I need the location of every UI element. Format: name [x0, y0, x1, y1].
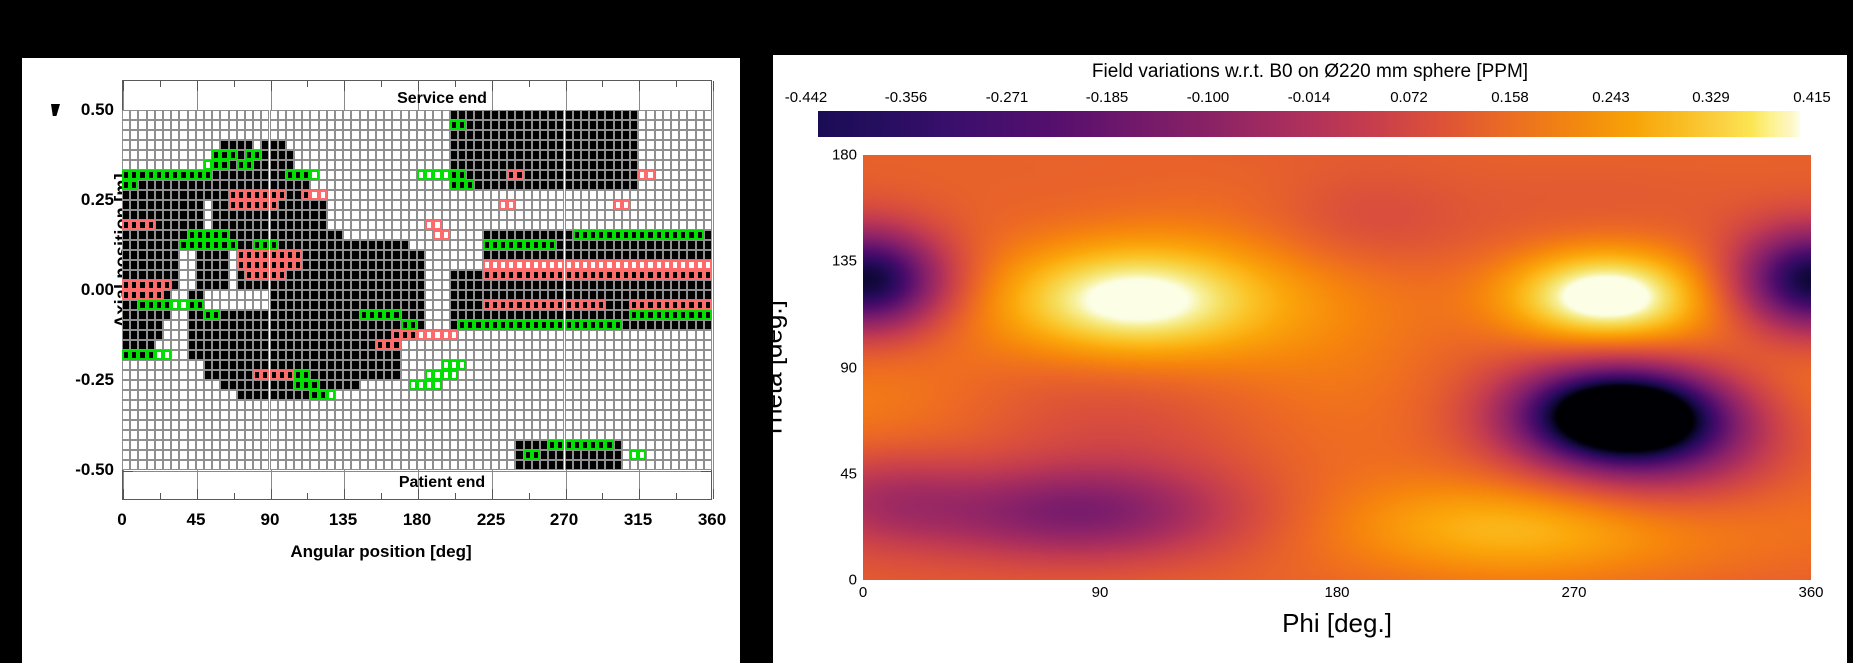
shim-cell [466, 380, 474, 390]
shim-cell [229, 280, 237, 290]
shim-cell [450, 380, 458, 390]
shim-cell [278, 110, 286, 120]
shim-cell [155, 110, 163, 120]
shim-cell [646, 390, 654, 400]
shim-cell [458, 290, 466, 300]
shim-cell [573, 320, 581, 330]
shim-cell [605, 250, 613, 260]
shim-cell [147, 220, 155, 230]
shim-cell [466, 340, 474, 350]
shim-cell [696, 380, 704, 390]
shim-cell [646, 220, 654, 230]
shim-cell [368, 380, 376, 390]
shim-cell [319, 300, 327, 310]
shim-cell [237, 380, 245, 390]
shim-cell [679, 340, 687, 350]
shim-cell [663, 380, 671, 390]
shim-cell [679, 190, 687, 200]
shim-cell [392, 380, 400, 390]
shim-cell [704, 460, 712, 470]
shim-cell [204, 400, 212, 410]
shim-cell [646, 260, 654, 270]
shim-cell [147, 460, 155, 470]
shim-cell [130, 110, 138, 120]
shim-cell [237, 360, 245, 370]
shim-cell [261, 340, 269, 350]
shim-cell [524, 270, 532, 280]
shim-cell [630, 370, 638, 380]
shim-cell [491, 400, 499, 410]
shim-cell [270, 460, 278, 470]
shim-cell [327, 150, 335, 160]
shim-cell [696, 250, 704, 260]
shim-cell [376, 130, 384, 140]
shim-cell [663, 410, 671, 420]
shim-cell [196, 110, 204, 120]
shim-cell [671, 220, 679, 230]
shim-cell [319, 400, 327, 410]
shim-cell [343, 460, 351, 470]
shim-cell [581, 110, 589, 120]
shim-cell [556, 330, 564, 340]
shim-cell [614, 230, 622, 240]
shim-cell [466, 350, 474, 360]
shim-cell [630, 420, 638, 430]
shim-cell [237, 310, 245, 320]
shim-cell [138, 460, 146, 470]
shim-cell [351, 380, 359, 390]
shim-cell [442, 150, 450, 160]
shim-cell [515, 150, 523, 160]
shim-cell [605, 120, 613, 130]
shim-cell [237, 220, 245, 230]
shim-cell [630, 340, 638, 350]
shim-cell [212, 170, 220, 180]
shim-cell [687, 130, 695, 140]
shim-cell [524, 200, 532, 210]
shim-cell [687, 180, 695, 190]
shim-cell [458, 210, 466, 220]
shim-cell [302, 430, 310, 440]
shim-cell [597, 270, 605, 280]
shim-cell [548, 200, 556, 210]
shim-cell [450, 120, 458, 130]
shim-cell [368, 230, 376, 240]
shim-cell [302, 190, 310, 200]
shim-cell [155, 240, 163, 250]
heatmap-x-tick-360: 360 [1798, 584, 1823, 601]
heatmap-x-tick-180: 180 [1324, 584, 1349, 601]
shim-cell [458, 350, 466, 360]
shim-cell [581, 200, 589, 210]
shim-cell [171, 130, 179, 140]
shim-cell [646, 330, 654, 340]
shim-cell [573, 360, 581, 370]
shim-cell [368, 440, 376, 450]
shim-cell [614, 280, 622, 290]
shim-cell [261, 230, 269, 240]
shim-cell [466, 280, 474, 290]
shim-cell [409, 160, 417, 170]
colorbar-tick-0: -0.442 [766, 89, 846, 106]
shim-cell [655, 220, 663, 230]
shim-cell [343, 310, 351, 320]
shim-cell [351, 270, 359, 280]
shim-cell [466, 370, 474, 380]
shim-cell [630, 110, 638, 120]
shim-cell [597, 330, 605, 340]
shim-cell [351, 250, 359, 260]
shim-cell [663, 290, 671, 300]
shim-cell [335, 380, 343, 390]
shim-cell [163, 370, 171, 380]
shim-cell [679, 360, 687, 370]
shim-cell [220, 320, 228, 330]
left-x-axis-label: Angular position [deg] [22, 542, 740, 562]
shim-cell [376, 290, 384, 300]
shim-cell [597, 130, 605, 140]
shim-cell [204, 270, 212, 280]
shim-cell [351, 190, 359, 200]
shim-cell [319, 350, 327, 360]
shim-cell [196, 140, 204, 150]
shim-cell [310, 180, 318, 190]
shim-cell [376, 280, 384, 290]
shim-cell [122, 250, 130, 260]
shim-cell [335, 220, 343, 230]
shim-cell [671, 350, 679, 360]
shim-cell [327, 270, 335, 280]
shim-cell [499, 320, 507, 330]
shim-cell [220, 150, 228, 160]
shim-cell [384, 220, 392, 230]
shim-cell [278, 280, 286, 290]
shim-cell [302, 380, 310, 390]
shim-cell [466, 360, 474, 370]
shim-cell [237, 420, 245, 430]
shim-cell [548, 140, 556, 150]
shim-cell [163, 150, 171, 160]
shim-cell [286, 130, 294, 140]
shim-cell [343, 320, 351, 330]
shim-cell [155, 330, 163, 340]
shim-cell [212, 160, 220, 170]
shim-cell [188, 140, 196, 150]
shim-cell [655, 240, 663, 250]
shim-cell [581, 230, 589, 240]
colorbar-tick-3: -0.185 [1067, 89, 1147, 106]
shim-cell [270, 190, 278, 200]
shim-cell [401, 280, 409, 290]
shim-cell [425, 350, 433, 360]
shim-cell [499, 350, 507, 360]
shim-cell [188, 430, 196, 440]
shim-cell [507, 390, 515, 400]
shim-cell [646, 300, 654, 310]
shim-cell [483, 440, 491, 450]
shim-cell [163, 120, 171, 130]
shim-cell [622, 330, 630, 340]
shim-cell [384, 150, 392, 160]
shim-cell [515, 350, 523, 360]
shim-cell [278, 270, 286, 280]
shim-cell [483, 460, 491, 470]
shim-cell [171, 140, 179, 150]
shim-cell [425, 410, 433, 420]
shim-cell [638, 130, 646, 140]
shim-cell [310, 450, 318, 460]
shim-cell [212, 350, 220, 360]
shim-cell [565, 220, 573, 230]
shim-cell [671, 280, 679, 290]
shim-cell [310, 210, 318, 220]
shim-cell [433, 320, 441, 330]
shim-cell [425, 310, 433, 320]
shim-cell [179, 210, 187, 220]
shim-cell [704, 390, 712, 400]
shim-cell [646, 200, 654, 210]
shim-cell [622, 260, 630, 270]
shim-cell [515, 160, 523, 170]
left-x-tick-1: 45 [166, 510, 226, 530]
shim-cell [581, 430, 589, 440]
shim-cell [663, 310, 671, 320]
shim-cell [655, 110, 663, 120]
shim-cell [196, 280, 204, 290]
shim-cell [663, 120, 671, 130]
shim-cell [392, 320, 400, 330]
shim-cell [294, 360, 302, 370]
shim-cell [220, 240, 228, 250]
shim-cell [188, 170, 196, 180]
shim-cell [360, 400, 368, 410]
shim-cell [507, 330, 515, 340]
shim-cell [212, 340, 220, 350]
shim-cell [548, 250, 556, 260]
shim-cell [335, 200, 343, 210]
shim-cell [122, 190, 130, 200]
shim-cell [433, 230, 441, 240]
shim-cell [147, 420, 155, 430]
shim-cell [458, 160, 466, 170]
shim-cell [589, 110, 597, 120]
shim-cell [499, 400, 507, 410]
shim-cell [310, 120, 318, 130]
left-xtick-mark [271, 489, 272, 499]
shim-cell [458, 460, 466, 470]
shim-cell [589, 430, 597, 440]
shim-cell [499, 360, 507, 370]
shim-cell [270, 380, 278, 390]
shim-cell [696, 460, 704, 470]
shim-cell [614, 460, 622, 470]
shim-cell [696, 140, 704, 150]
shim-cell [704, 170, 712, 180]
shim-cell [196, 340, 204, 350]
shim-cell [556, 400, 564, 410]
shim-cell [565, 120, 573, 130]
shim-cell [515, 340, 523, 350]
shim-cell [319, 200, 327, 210]
shim-cell [630, 190, 638, 200]
shim-cell [261, 410, 269, 420]
shim-cell [278, 420, 286, 430]
shim-cell [671, 400, 679, 410]
shim-cell [286, 370, 294, 380]
shim-cell [573, 180, 581, 190]
shim-cell [343, 440, 351, 450]
shim-cell [204, 460, 212, 470]
shim-cell [581, 320, 589, 330]
shim-cell [188, 410, 196, 420]
shim-cell [638, 280, 646, 290]
shim-cell [171, 390, 179, 400]
shim-cell [671, 330, 679, 340]
shim-cell [360, 370, 368, 380]
shim-cell [196, 320, 204, 330]
shim-cell [433, 240, 441, 250]
shim-cell [122, 340, 130, 350]
shim-cell [663, 150, 671, 160]
shim-cell [351, 330, 359, 340]
shim-cell [122, 370, 130, 380]
shim-cell [540, 460, 548, 470]
shim-cell [196, 440, 204, 450]
shim-cell [368, 240, 376, 250]
shim-cell [605, 170, 613, 180]
shim-cell [491, 120, 499, 130]
left-xtick-mark [197, 81, 198, 91]
shim-cell [302, 420, 310, 430]
shim-cell [679, 430, 687, 440]
shim-cell [327, 130, 335, 140]
shim-cell [515, 140, 523, 150]
shim-cell [130, 440, 138, 450]
shim-cell [433, 220, 441, 230]
shim-cell [138, 280, 146, 290]
shim-cell [614, 390, 622, 400]
shim-cell [368, 330, 376, 340]
shim-cell [499, 110, 507, 120]
shim-cell [638, 460, 646, 470]
shim-cell [524, 190, 532, 200]
shim-cell [261, 370, 269, 380]
shim-cell [368, 360, 376, 370]
shim-cell [401, 320, 409, 330]
shim-cell [319, 150, 327, 160]
shim-cell [597, 210, 605, 220]
shim-cell [540, 240, 548, 250]
shim-cell [458, 280, 466, 290]
shim-cell [335, 150, 343, 160]
shim-cell [310, 430, 318, 440]
shim-cell [565, 330, 573, 340]
shim-cell [630, 310, 638, 320]
shim-cell [646, 440, 654, 450]
shim-cell [491, 230, 499, 240]
shim-cell [302, 320, 310, 330]
shim-cell [351, 430, 359, 440]
shim-cell [368, 410, 376, 420]
shim-cell [655, 370, 663, 380]
shim-cell [245, 170, 253, 180]
shim-cell [696, 430, 704, 440]
shim-cell [556, 320, 564, 330]
shim-cell [360, 180, 368, 190]
shim-cell [524, 130, 532, 140]
shim-cell [663, 340, 671, 350]
shim-cell [327, 190, 335, 200]
shim-cell [360, 110, 368, 120]
shim-cell [605, 450, 613, 460]
shim-cell [556, 290, 564, 300]
shim-cell [630, 170, 638, 180]
shim-cell [286, 260, 294, 270]
shim-cell [327, 230, 335, 240]
shim-cell [532, 260, 540, 270]
shim-cell [655, 450, 663, 460]
shim-cell [278, 370, 286, 380]
shim-cell [343, 230, 351, 240]
shim-cell [597, 360, 605, 370]
shim-cell [556, 110, 564, 120]
shim-cell [229, 290, 237, 300]
shim-cell [376, 380, 384, 390]
shim-cell [253, 240, 261, 250]
shim-cell [261, 220, 269, 230]
shim-cell [368, 270, 376, 280]
shim-cell [433, 110, 441, 120]
shim-cell [425, 170, 433, 180]
shim-cell [245, 450, 253, 460]
shim-cell [425, 430, 433, 440]
shim-cell [687, 160, 695, 170]
left-xtick-mark [676, 493, 677, 499]
shim-cell [130, 200, 138, 210]
shim-cell [310, 280, 318, 290]
shim-cell [138, 340, 146, 350]
shim-cell [417, 300, 425, 310]
shim-cell [188, 180, 196, 190]
shim-cell [499, 210, 507, 220]
colorbar-tick-9: 0.329 [1671, 89, 1751, 106]
shim-cell [687, 280, 695, 290]
shim-cell [212, 270, 220, 280]
shim-cell [548, 330, 556, 340]
shim-cell [622, 300, 630, 310]
shim-cell [351, 110, 359, 120]
shim-cell [548, 320, 556, 330]
shim-cell [122, 410, 130, 420]
shim-cell [220, 360, 228, 370]
shim-cell [704, 360, 712, 370]
shim-cell [417, 160, 425, 170]
shim-cell [335, 340, 343, 350]
shim-cell [548, 430, 556, 440]
shim-cell [212, 450, 220, 460]
shim-cell [565, 410, 573, 420]
shim-cell [327, 330, 335, 340]
shim-cell [384, 460, 392, 470]
shim-cell [188, 370, 196, 380]
shim-cell [294, 240, 302, 250]
shim-cell [253, 290, 261, 300]
shim-cell [589, 350, 597, 360]
shim-cell [138, 310, 146, 320]
shim-cell [384, 230, 392, 240]
shim-cell [573, 410, 581, 420]
shim-cell [614, 370, 622, 380]
